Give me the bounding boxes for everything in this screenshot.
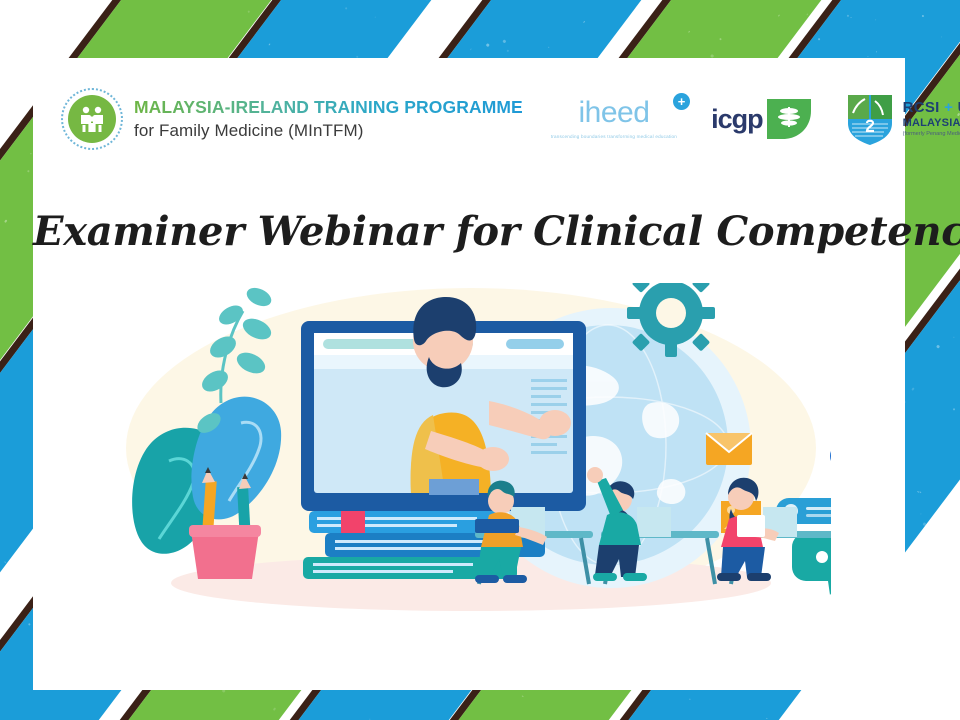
envelope xyxy=(706,433,752,465)
icgp-leaf-icon xyxy=(765,99,811,139)
mintfm-title: MALAYSIA-IRELAND TRAINING PROGRAMME xyxy=(134,99,523,117)
message-pill-1 xyxy=(830,443,831,469)
iheed-tagline: transcending boundaries transforming med… xyxy=(551,133,677,140)
online-webinar-illustration xyxy=(111,283,831,613)
logo-mintfm: MALAYSIA-IRELAND TRAINING PROGRAMME for … xyxy=(61,88,523,150)
logo-icgp: icgp xyxy=(711,99,811,139)
iheed-wordmark: iheed xyxy=(551,98,677,128)
partner-logo-row: MALAYSIA-IRELAND TRAINING PROGRAMME for … xyxy=(33,78,905,160)
chat-bubble xyxy=(792,533,831,595)
mintfm-seal-icon xyxy=(61,88,123,150)
gear xyxy=(627,283,715,357)
family-seal-icon xyxy=(77,105,107,133)
logo-rcsi-ucd: RCSI + UCD MALAYSIA CAMPUS (formerly Pen… xyxy=(845,93,960,145)
rcsi-ucd-line1: RCSI + UCD xyxy=(903,100,960,115)
rcsi-plus-icon: + xyxy=(944,99,953,116)
rcsi-ucd-line3: (formerly Penang Medical College) xyxy=(903,132,960,138)
slide-card: MALAYSIA-IRELAND TRAINING PROGRAMME for … xyxy=(33,58,905,690)
iheed-plus-icon: + xyxy=(673,93,690,110)
logo-iheed: iheed + transcending boundaries transfor… xyxy=(551,98,677,140)
rcsi-ucd-shield-icon xyxy=(845,93,895,145)
rcsi-ucd-line2: MALAYSIA CAMPUS xyxy=(903,118,960,129)
mintfm-subtitle: for Family Medicine (MInTFM) xyxy=(134,122,523,139)
slide-heading: Examiner Webinar for Clinical Competency… xyxy=(33,208,905,255)
icgp-wordmark: icgp xyxy=(711,106,763,133)
rcsi-label: RCSI xyxy=(903,99,940,116)
